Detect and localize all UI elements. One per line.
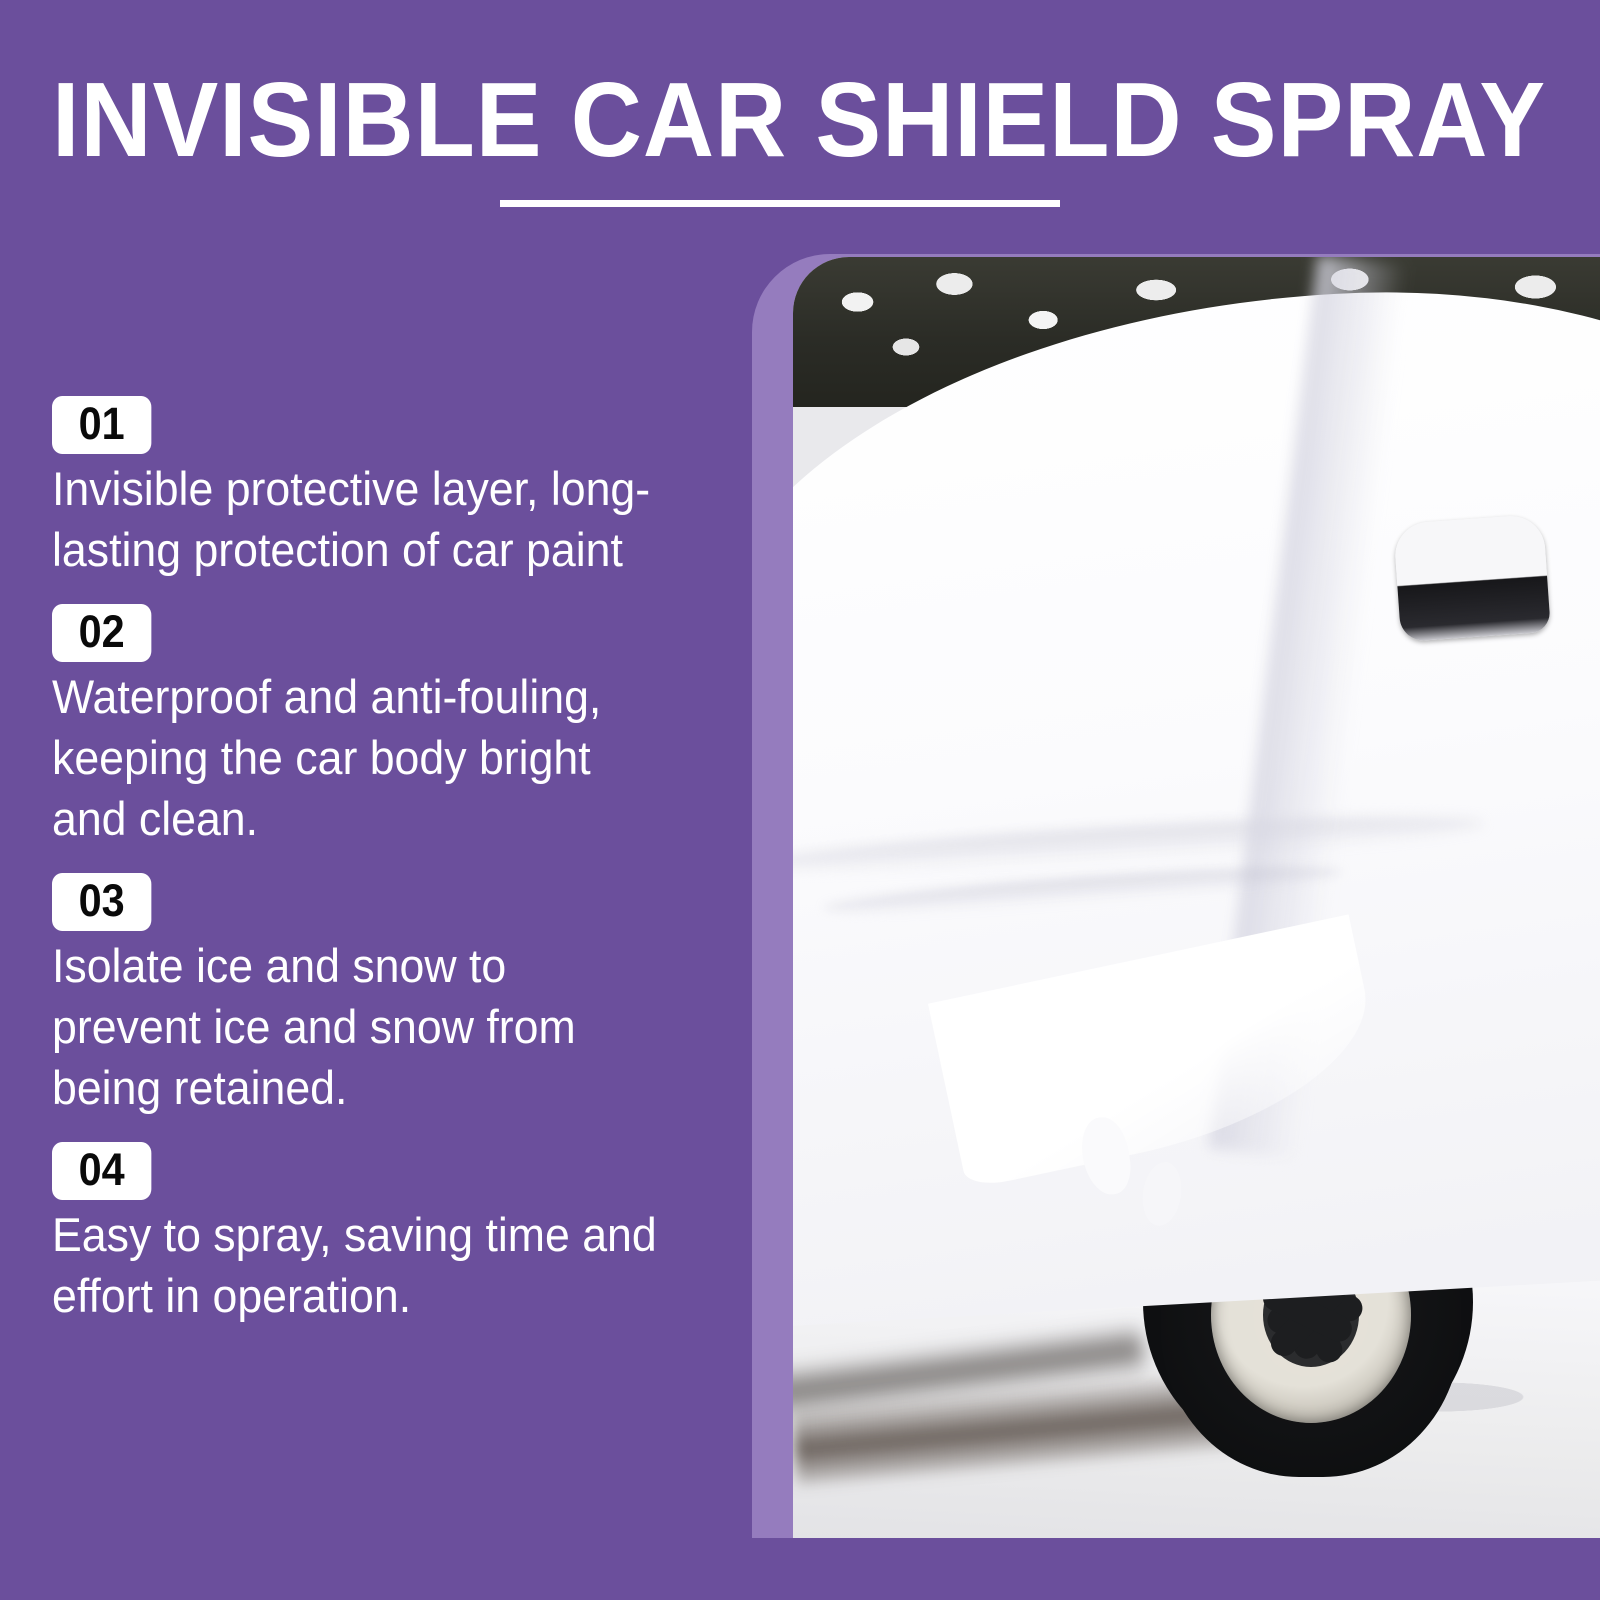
feature-description: Easy to spray, saving time and effort in… xyxy=(52,1204,660,1326)
feature-number-badge: 01 xyxy=(52,396,151,454)
feature-description: Waterproof and anti-fouling, keeping the… xyxy=(52,666,660,849)
product-feature-poster: INVISIBLE CAR SHIELD SPRAY 01 Invisible … xyxy=(0,0,1600,1600)
feature-list: 01 Invisible protective layer, long-last… xyxy=(0,396,720,1350)
poster-header: INVISIBLE CAR SHIELD SPRAY xyxy=(0,0,1600,240)
feature-number-badge: 02 xyxy=(52,604,151,662)
feature-number-badge: 04 xyxy=(52,1142,151,1200)
snow-layer-on-car xyxy=(793,265,1600,1329)
title-underline-rule xyxy=(500,200,1060,207)
feature-item: 02 Waterproof and anti-fouling, keeping … xyxy=(0,604,720,849)
feature-number-badge: 03 xyxy=(52,873,151,931)
snow-covered-car-photo xyxy=(793,257,1600,1538)
photo-scene xyxy=(793,257,1600,1538)
feature-item: 03 Isolate ice and snow to prevent ice a… xyxy=(0,873,720,1118)
feature-description: Invisible protective layer, long-lasting… xyxy=(52,458,660,580)
page-title: INVISIBLE CAR SHIELD SPRAY xyxy=(52,66,1447,174)
side-mirror xyxy=(1393,514,1551,642)
feature-item: 01 Invisible protective layer, long-last… xyxy=(0,396,720,580)
feature-item: 04 Easy to spray, saving time and effort… xyxy=(0,1142,720,1326)
feature-description: Isolate ice and snow to prevent ice and … xyxy=(52,935,660,1118)
